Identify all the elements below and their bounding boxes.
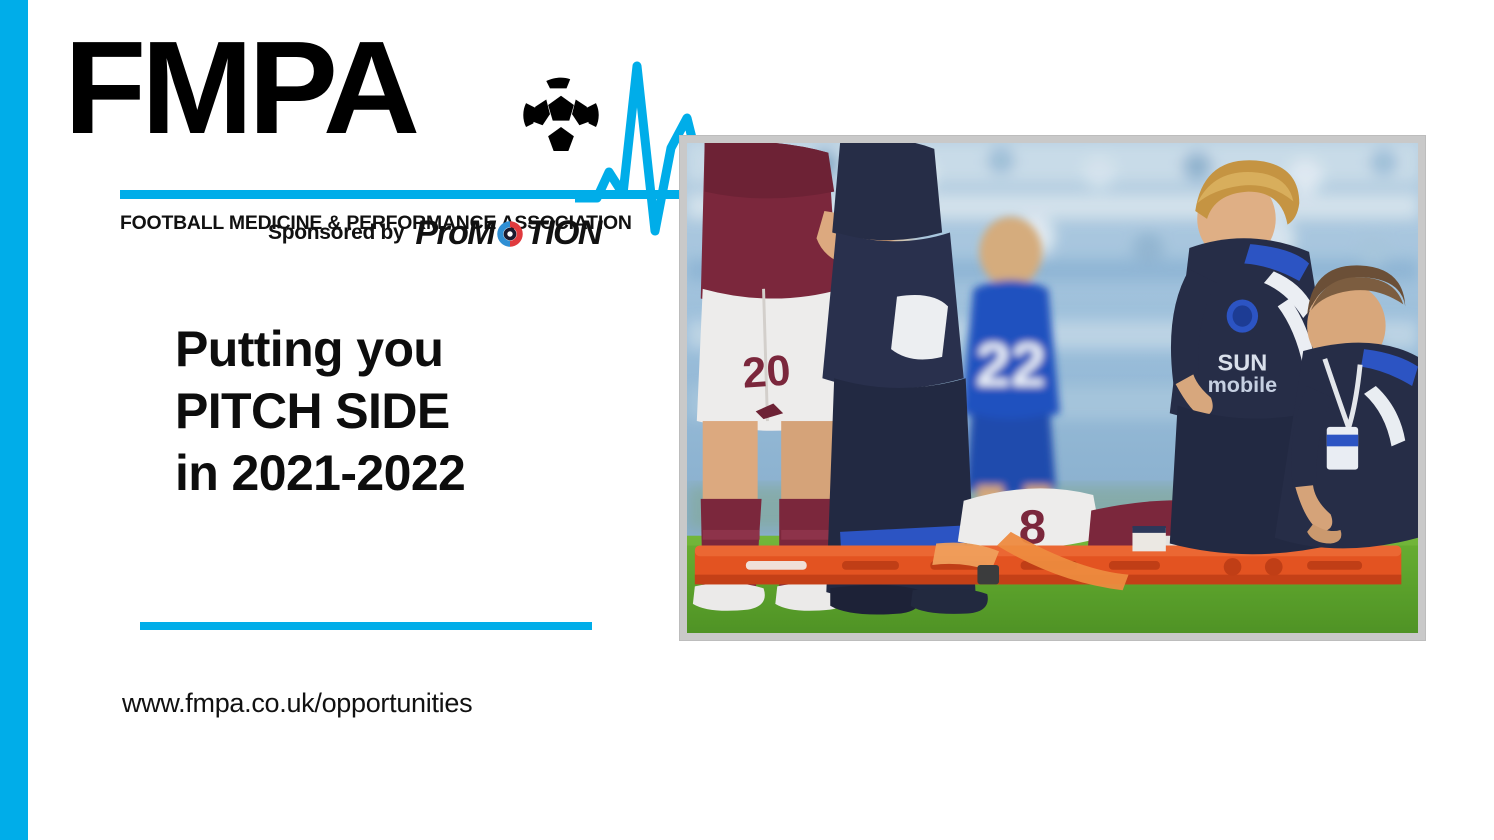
section-divider bbox=[140, 622, 592, 630]
left-accent-bar bbox=[0, 0, 28, 840]
sponsored-by-label: Sponsored by bbox=[268, 221, 404, 245]
promotion-circle-icon bbox=[495, 219, 525, 249]
promotion-logo: ProM TION bbox=[415, 216, 600, 250]
fmpa-wordmark-text: FMPA bbox=[64, 22, 415, 154]
page-title: Putting you PITCH SIDE in 2021-2022 bbox=[175, 318, 465, 504]
sponsor-row: Sponsored by ProM TION bbox=[268, 216, 601, 250]
injury-photo-illustration: 22 20 bbox=[687, 143, 1418, 633]
logo-wordmark-row: FMPA bbox=[60, 28, 680, 168]
photo-frame: 22 20 bbox=[680, 136, 1425, 640]
injury-photo: 22 20 bbox=[687, 143, 1418, 633]
headline-line-1: Putting you bbox=[175, 318, 465, 380]
promotion-text-post: TION bbox=[526, 216, 601, 250]
website-url-link[interactable]: www.fmpa.co.uk/opportunities bbox=[122, 688, 472, 719]
fmpa-logo: FMPA FOOTBALL MEDICINE & PERFORMANCE ASS… bbox=[60, 28, 680, 168]
promotion-text-pre: ProM bbox=[415, 216, 494, 250]
headline-line-2: PITCH SIDE bbox=[175, 380, 465, 442]
logo-underline-rule bbox=[120, 190, 680, 199]
headline-line-3: in 2021-2022 bbox=[175, 442, 465, 504]
